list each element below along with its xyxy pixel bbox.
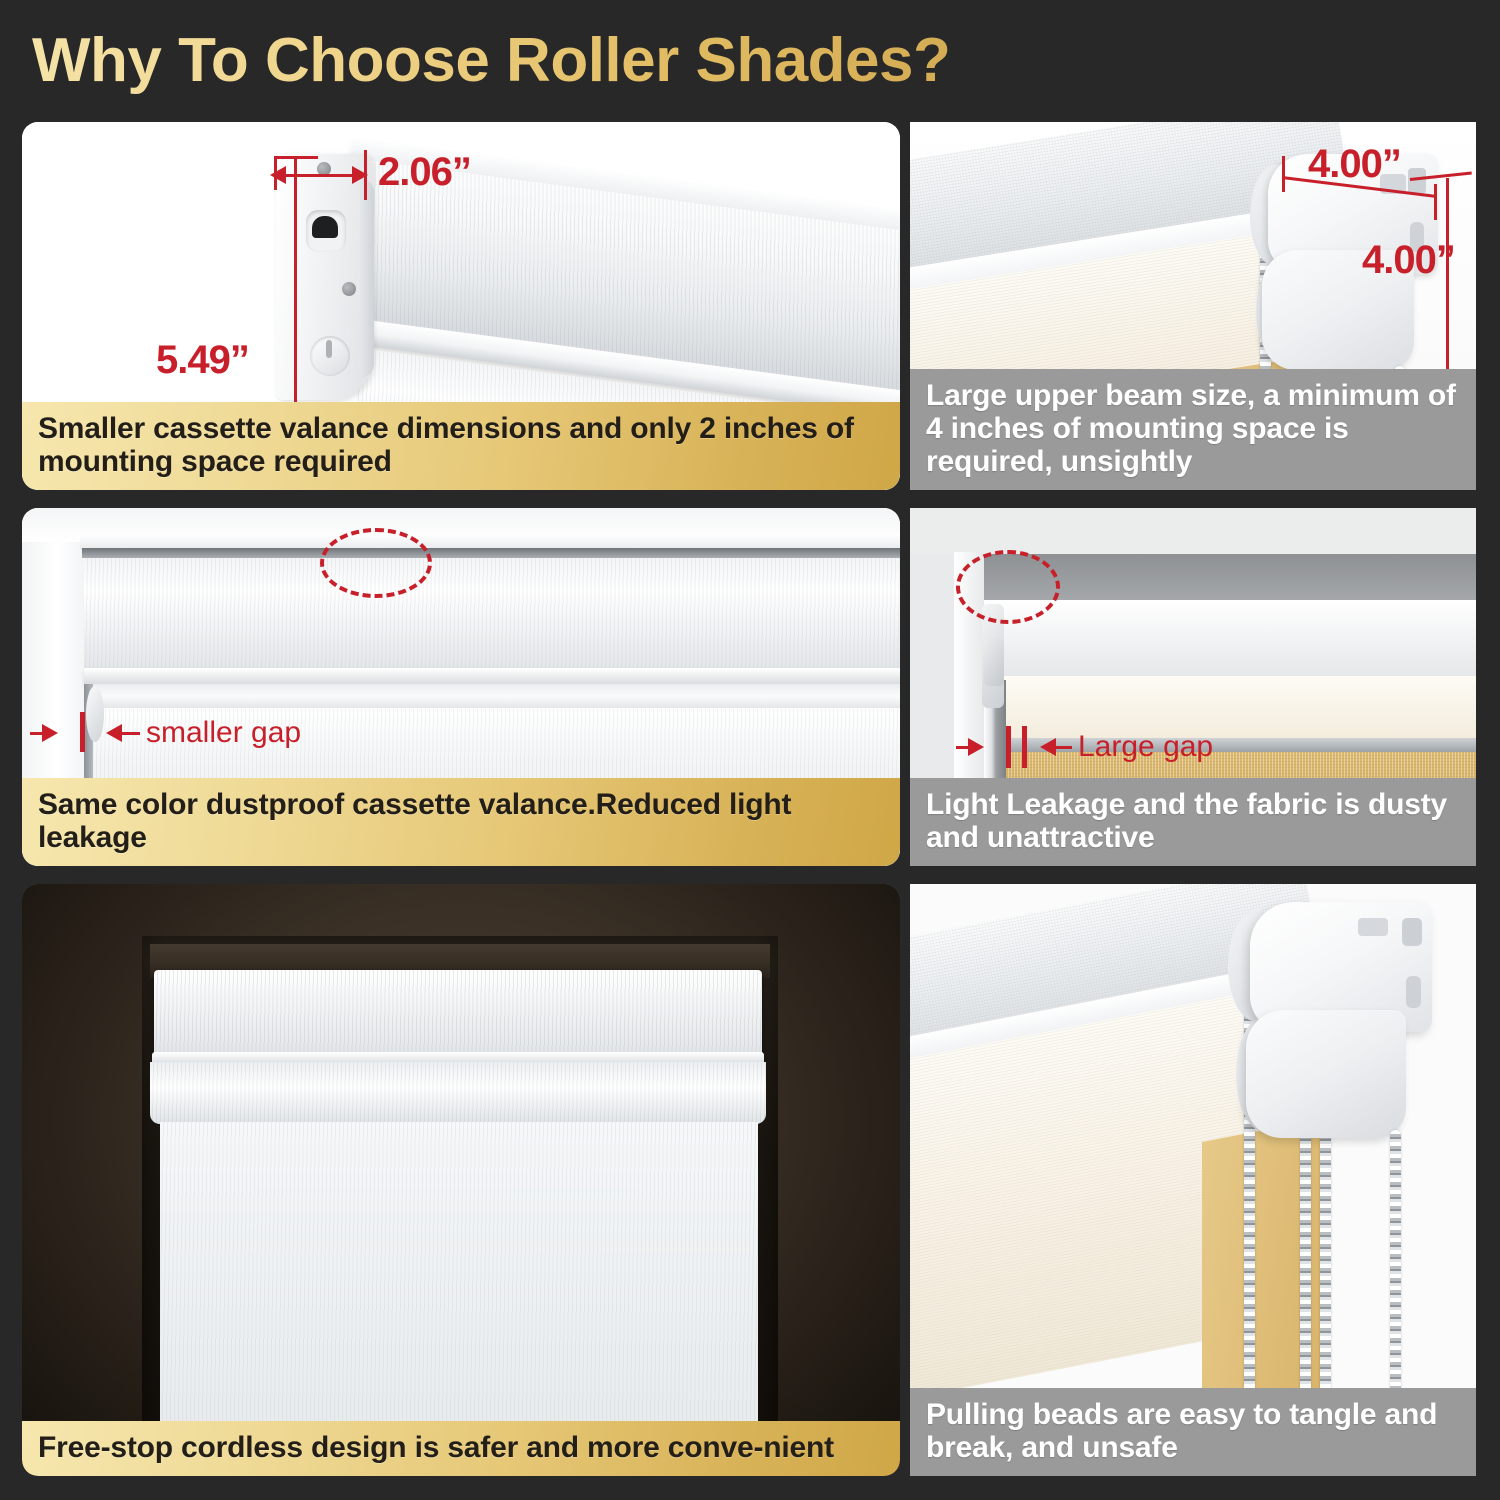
dim-arrow-left [270,166,286,184]
highlight-ellipse-icon [956,550,1060,624]
panel-pulling-beads: Pulling beads are easy to tangle and bre… [910,884,1476,1476]
gap-arrow-left-stem [956,746,978,749]
gap-arrow-right-stem [1054,746,1072,749]
panel-free-stop-cordless: Free-stop cordless design is safer and m… [22,884,900,1476]
gap-marker-bar-2 [1022,726,1027,768]
gap-arrow-left-stem [30,732,52,735]
dim-tick-left [1282,156,1285,192]
gap-marker-bar-1 [1006,726,1011,768]
panel-light-leakage: Large gap Light Leakage and the fabric i… [910,508,1476,866]
caption-pulling-beads: Pulling beads are easy to tangle and bre… [910,1388,1476,1476]
infographic-root: Why To Choose Roller Shades? 2.06” [0,0,1500,1500]
page-title: Why To Choose Roller Shades? [32,18,1132,104]
caption-light-leakage: Light Leakage and the fabric is dusty an… [910,778,1476,866]
dim-tick-right [1434,184,1437,220]
dim-tick-top [274,156,318,159]
caption-cassette-valance-dimensions: Smaller cassette valance dimensions and … [22,402,900,490]
highlight-ellipse-icon [320,528,432,598]
gap-arrow-right-stem [120,732,140,735]
caption-large-upper-beam: Large upper beam size, a minimum of 4 in… [910,369,1476,490]
dim-arrow-right [352,166,368,184]
panel-cassette-valance-dimensions: 2.06” 5.49” Smaller cassette valance dim… [22,122,900,490]
bead-chain-4 [1390,1130,1401,1418]
lifestyle-photo-window-shade [22,884,900,1476]
caption-dustproof-cassette-valance: Same color dustproof cassette valance.Re… [22,778,900,866]
caption-free-stop-cordless: Free-stop cordless design is safer and m… [22,1421,900,1476]
gap-marker-bar [80,712,85,752]
panel-dustproof-cassette-valance: smaller gap Same color dustproof cassett… [22,508,900,866]
dim-line-height [1446,178,1449,372]
panel-large-upper-beam: 4.00” 4.00” Large upper beam size, a min… [910,122,1476,490]
